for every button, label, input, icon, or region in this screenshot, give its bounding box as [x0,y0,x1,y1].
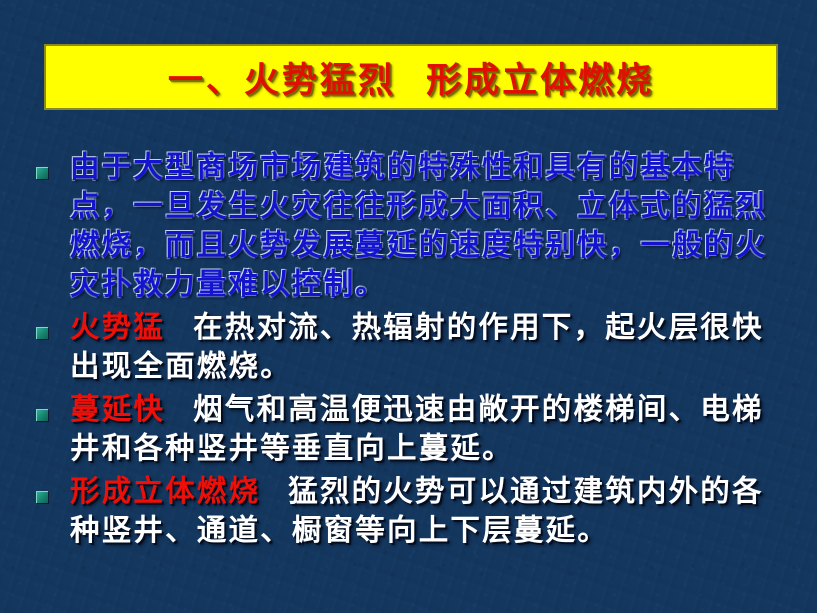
square-bullet-icon [36,409,48,421]
square-bullet-icon [36,327,48,339]
bullet-text-paragraph: 形成立体燃烧猛烈的火势可以通过建筑内外的各种竖井、通道、橱窗等向上下层蔓延。 [48,472,781,550]
slide-title: 一、火势猛烈 形成立体燃烧 [168,52,654,103]
slide-body: 由于大型商场市场建筑的特殊性和具有的基本特点，一旦发生火灾往往形成大面积、立体式… [36,148,781,550]
bullet-keyword: 火势猛 [70,310,165,344]
bullet-text-paragraph: 火势猛在热对流、热辐射的作用下，起火层很快出现全面燃烧。 [48,308,781,386]
bullet-keyword: 形成立体燃烧 [70,474,260,508]
list-item: 火势猛在热对流、热辐射的作用下，起火层很快出现全面燃烧。 [36,308,781,386]
bullet-text-paragraph: 蔓延快烟气和高温便迅速由敞开的楼梯间、电梯井和各种竖井等垂直向上蔓延。 [48,390,781,468]
presentation-slide: 一、火势猛烈 形成立体燃烧 由于大型商场市场建筑的特殊性和具有的基本特点，一旦发… [0,0,817,613]
list-item: 形成立体燃烧猛烈的火势可以通过建筑内外的各种竖井、通道、橱窗等向上下层蔓延。 [36,472,781,550]
square-bullet-icon [36,491,48,503]
list-item: 蔓延快烟气和高温便迅速由敞开的楼梯间、电梯井和各种竖井等垂直向上蔓延。 [36,390,781,468]
title-banner: 一、火势猛烈 形成立体燃烧 [44,44,778,110]
bullet-text-paragraph: 由于大型商场市场建筑的特殊性和具有的基本特点，一旦发生火灾往往形成大面积、立体式… [48,148,781,304]
bullet-keyword: 蔓延快 [70,392,165,426]
bullet-detail-text: 烟气和高温便迅速由敞开的楼梯间、电梯井和各种竖井等垂直向上蔓延。 [70,392,764,465]
square-bullet-icon [36,167,48,179]
list-item: 由于大型商场市场建筑的特殊性和具有的基本特点，一旦发生火灾往往形成大面积、立体式… [36,148,781,304]
bullet-detail-text: 在热对流、热辐射的作用下，起火层很快出现全面燃烧。 [70,310,764,383]
